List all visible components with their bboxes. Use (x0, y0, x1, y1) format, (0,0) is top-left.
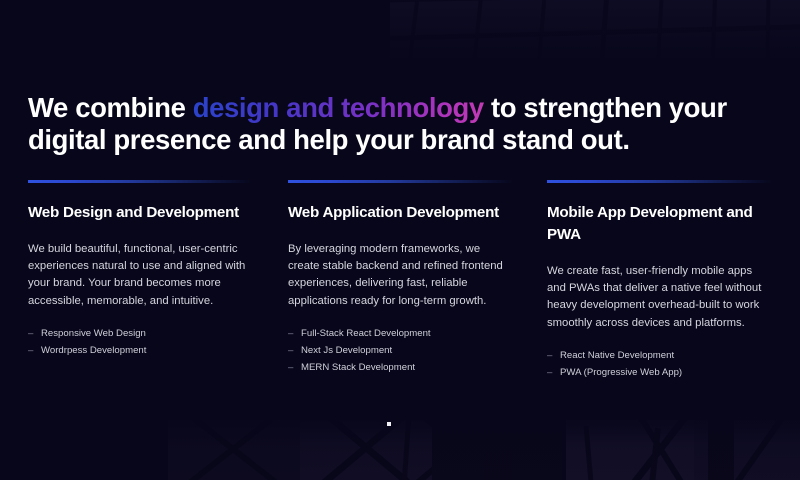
service-description: We create fast, user-friendly mobile app… (547, 263, 773, 332)
services-section: We combine design and technology to stre… (0, 0, 800, 480)
service-title: Web Design and Development (28, 202, 252, 224)
list-item: –PWA (Progressive Web App) (547, 364, 773, 381)
column-accent-rule (288, 180, 514, 183)
dash-icon: – (288, 325, 293, 342)
list-item-label: React Native Development (560, 350, 674, 361)
list-item-label: PWA (Progressive Web App) (560, 367, 682, 378)
list-item: –Full-Stack React Development (288, 325, 514, 342)
dash-icon: – (28, 342, 33, 359)
service-description: By leveraging modern frameworks, we crea… (288, 241, 514, 310)
service-feature-list: –React Native Development –PWA (Progress… (547, 347, 773, 381)
dash-icon: – (547, 364, 552, 381)
dash-icon: – (547, 347, 552, 364)
service-title: Web Application Development (288, 202, 514, 224)
dash-icon: – (28, 325, 33, 342)
headline-part-1: We combine (28, 92, 193, 123)
list-item-label: MERN Stack Development (301, 362, 415, 373)
column-accent-rule (28, 180, 252, 183)
list-item: –Wordrpess Development (28, 342, 252, 359)
dash-icon: – (288, 359, 293, 376)
dash-icon: – (288, 342, 293, 359)
section-content: We combine design and technology to stre… (0, 0, 800, 480)
service-feature-list: –Full-Stack React Development –Next Js D… (288, 325, 514, 376)
list-item: –React Native Development (547, 347, 773, 364)
service-column-web-design: Web Design and Development We build beau… (28, 180, 252, 359)
list-item-label: Next Js Development (301, 345, 392, 356)
service-description: We build beautiful, functional, user-cen… (28, 241, 252, 310)
service-column-web-application: Web Application Development By leveragin… (288, 180, 514, 376)
service-feature-list: –Responsive Web Design –Wordrpess Develo… (28, 325, 252, 359)
list-item-label: Wordrpess Development (41, 345, 146, 356)
list-item-label: Full-Stack React Development (301, 328, 431, 339)
list-item-label: Responsive Web Design (41, 328, 146, 339)
list-item: –MERN Stack Development (288, 359, 514, 376)
service-column-mobile-app: Mobile App Development and PWA We create… (547, 180, 773, 381)
list-item: –Next Js Development (288, 342, 514, 359)
service-title: Mobile App Development and PWA (547, 202, 773, 246)
page-title: We combine design and technology to stre… (28, 92, 772, 156)
column-accent-rule (547, 180, 773, 183)
headline-highlight: design and technology (193, 92, 484, 123)
list-item: –Responsive Web Design (28, 325, 252, 342)
